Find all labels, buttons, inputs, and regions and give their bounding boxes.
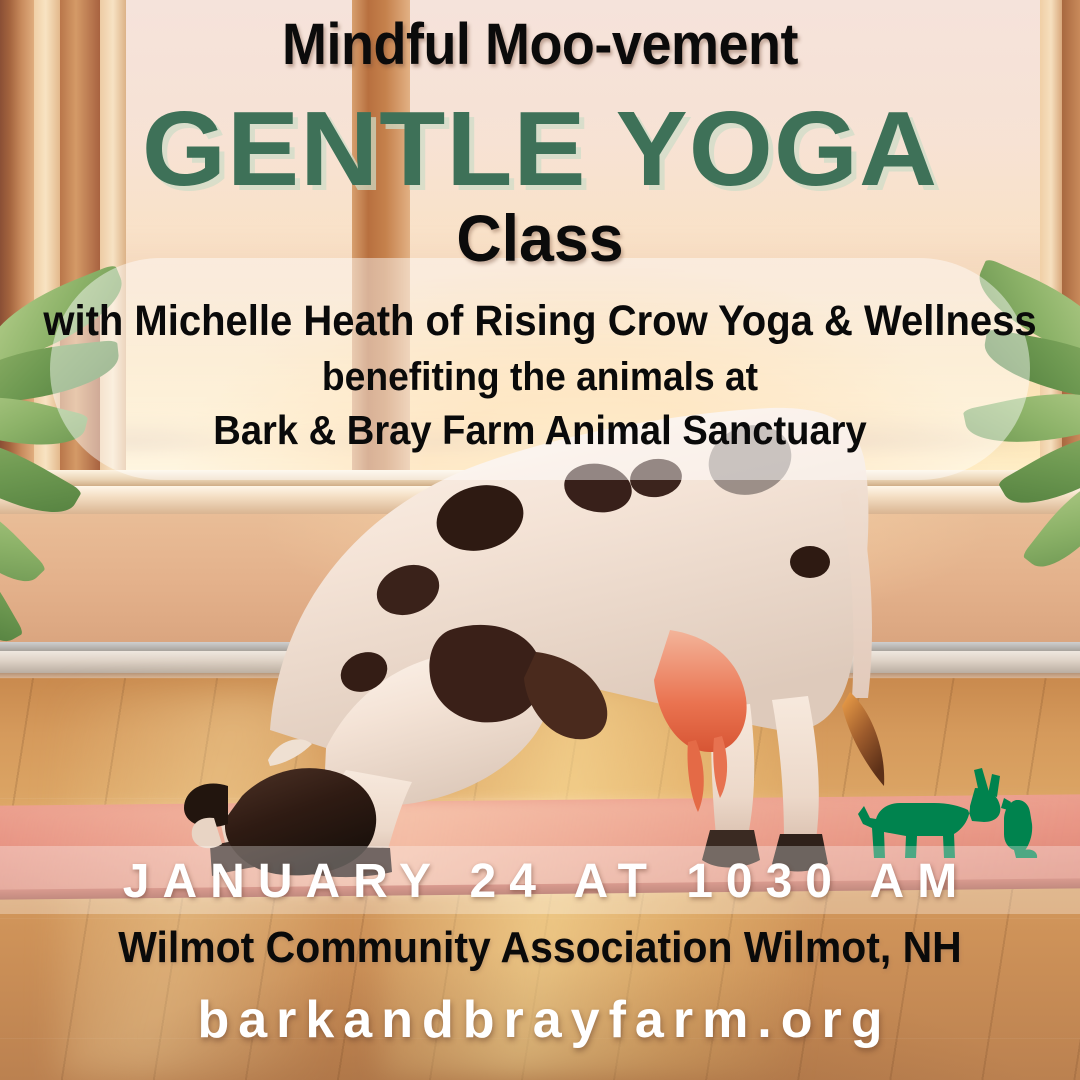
website-url[interactable]: barkandbrayfarm.org bbox=[0, 994, 1080, 1046]
detail-line-instructor: with Michelle Heath of Rising Crow Yoga … bbox=[38, 300, 1042, 343]
detail-line-organization: Bark & Bray Farm Animal Sanctuary bbox=[38, 410, 1042, 451]
event-date-time: JANUARY 24 AT 1030 AM bbox=[0, 858, 1080, 906]
detail-line-benefiting: benefiting the animals at bbox=[38, 357, 1042, 397]
event-flyer: Mindful Moo-vement GENTLE YOGA Class wit… bbox=[0, 0, 1080, 1080]
headline-main: GENTLE YOGA bbox=[0, 96, 1080, 202]
headline-kicker: Mindful Moo-vement bbox=[38, 16, 1042, 74]
headline-sub: Class bbox=[27, 205, 1053, 271]
event-venue: Wilmot Community Association Wilmot, NH bbox=[38, 926, 1042, 970]
